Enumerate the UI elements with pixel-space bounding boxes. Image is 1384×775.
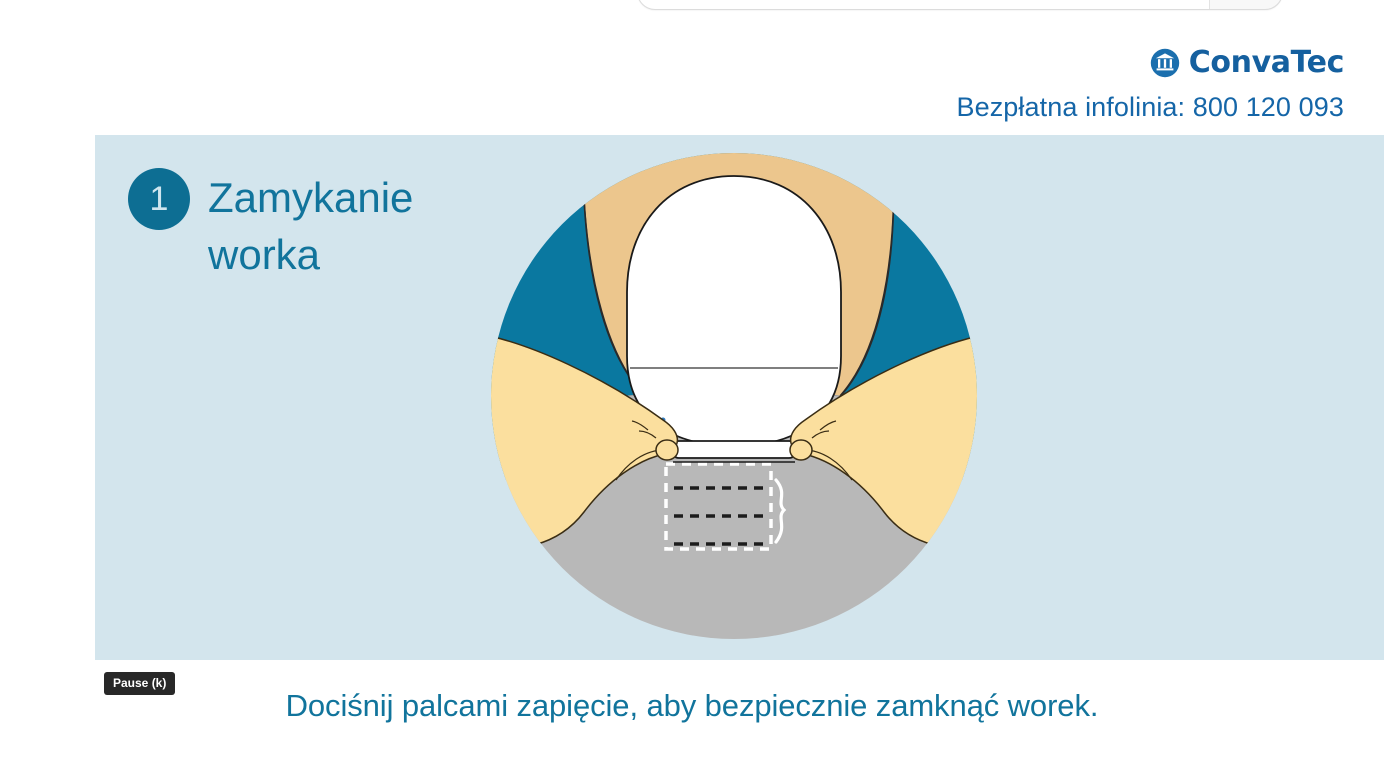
- search-submit-button[interactable]: [1210, 0, 1283, 10]
- step-title: Zamykanie worka: [208, 170, 508, 283]
- hotline-text: Bezpłatna infolinia: 800 120 093: [956, 92, 1344, 123]
- brand-name: ConvaTec: [1189, 48, 1344, 78]
- step-number-badge: 1: [128, 168, 190, 230]
- search-input[interactable]: [637, 0, 1283, 10]
- step-heading: 1 Zamykanie worka: [128, 168, 508, 283]
- brand-header: ConvaTec: [1150, 48, 1344, 78]
- slide-caption: Dociśnij palcami zapięcie, aby bezpieczn…: [0, 688, 1384, 724]
- page-root: ConvaTec Bezpłatna infolinia: 800 120 09…: [0, 0, 1384, 775]
- slide-panel: 1 Zamykanie worka: [95, 135, 1384, 660]
- convatec-temple-logo-icon: [1150, 48, 1180, 78]
